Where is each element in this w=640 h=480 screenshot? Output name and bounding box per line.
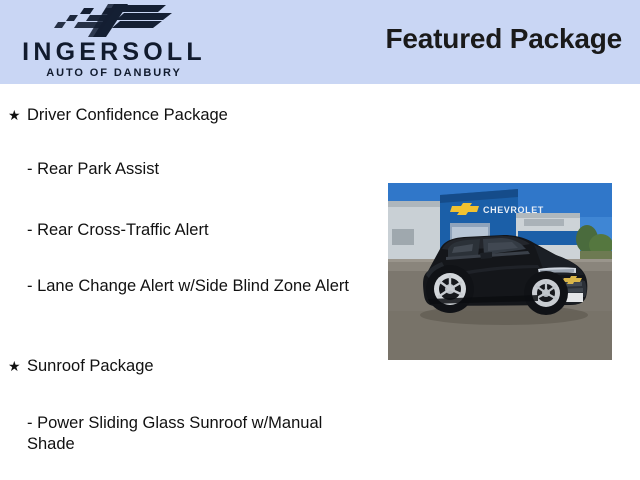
page-title: Featured Package	[386, 24, 622, 55]
feature-item: - Rear Cross-Traffic Alert	[27, 220, 357, 241]
vehicle-photo: CHEVROLET	[388, 183, 612, 360]
star-bullet-icon: ★	[8, 105, 27, 126]
feature-list: ★ Driver Confidence Package - Rear Park …	[0, 84, 380, 480]
feature-group-heading: ★ Sunroof Package	[8, 356, 360, 377]
feature-group-heading: ★ Driver Confidence Package	[8, 105, 360, 126]
feature-item: - Rear Park Assist	[27, 159, 357, 180]
feature-item: - Lane Change Alert w/Side Blind Zone Al…	[27, 276, 357, 297]
brand-tagline: AUTO OF DANBURY	[8, 68, 220, 79]
page-header: INGERSOLL AUTO OF DANBURY Featured Packa…	[0, 0, 640, 84]
feature-group-label: Sunroof Package	[27, 356, 154, 377]
dealer-logo: INGERSOLL AUTO OF DANBURY	[8, 2, 220, 82]
feature-item: - Power Sliding Glass Sunroof w/Manual S…	[27, 413, 357, 455]
feature-group-label: Driver Confidence Package	[27, 105, 228, 126]
star-bullet-icon: ★	[8, 356, 27, 377]
brand-wordmark: INGERSOLL	[8, 40, 220, 65]
winged-checkered-flag-emblem	[50, 3, 172, 39]
